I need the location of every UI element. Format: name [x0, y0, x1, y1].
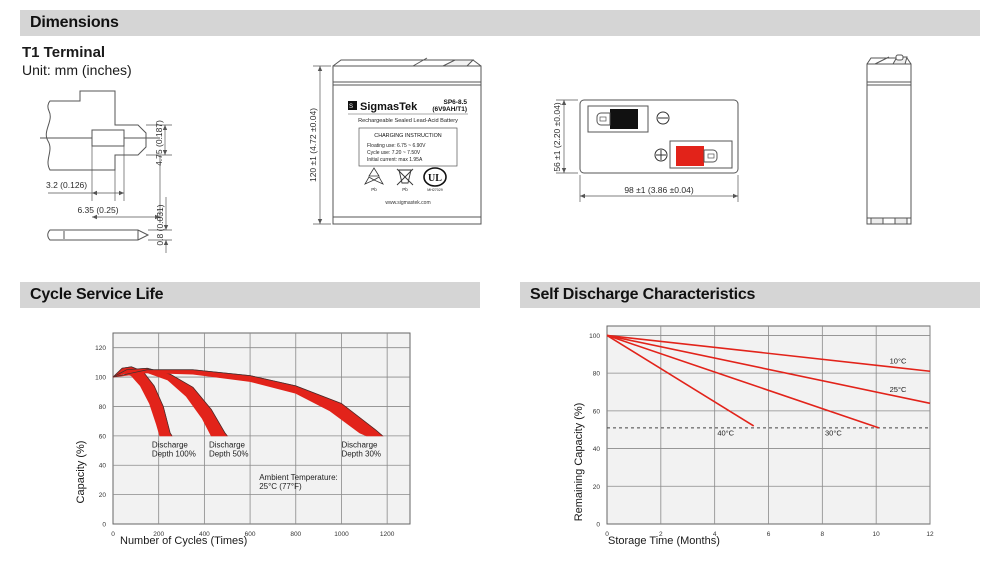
model-spec: (6V9AH/T1) — [432, 106, 467, 113]
section-title-dimensions: Dimensions — [20, 14, 119, 32]
cycle-annotation: 25°C (77°F) — [259, 482, 302, 491]
selfdis-xtick: 8 — [821, 531, 825, 538]
cycle-annotation: Depth 50% — [209, 450, 249, 459]
cycle-annotation: Ambient Temperature: — [259, 473, 338, 482]
selfdis-chart-xlabel: Storage Time (Months) — [608, 535, 720, 547]
cycle-xtick: 1200 — [380, 531, 395, 538]
terminal-detail-drawing: 4.75 (0.187) 3.2 (0.126) 6.35 (0.25) 0.8… — [20, 85, 240, 260]
ul-file-number: MH27029 — [427, 188, 443, 192]
section-header-self-discharge: Self Discharge Characteristics — [520, 282, 980, 308]
battery-top-view: 56 ±1 (2.20 ±0.04) 98 ±1 (3.86 ±0.04) — [520, 80, 820, 220]
brand-name: SigmasTek — [360, 101, 418, 113]
charging-line-floating: Floating use: 6.75 ~ 6.90V — [367, 143, 426, 149]
battery-front-view: 120 ±1 (4.72 ±0.04) S SigmasTek SP6-8.5 … — [295, 52, 500, 237]
terminal-height-dimension: 4.75 (0.187) — [154, 120, 164, 166]
cycle-service-life-chart: 020040060080010001200020406080100120Disc… — [20, 312, 480, 557]
cycle-xtick: 0 — [111, 531, 115, 538]
selfdis-temp-label: 30°C — [825, 428, 842, 437]
selfdis-ytick: 100 — [589, 333, 600, 340]
crossed-bin-pb-caption: Pb — [402, 187, 408, 192]
selfdis-ytick: 40 — [593, 446, 601, 453]
section-header-cycle-service-life: Cycle Service Life — [20, 282, 480, 308]
selfdis-chart-ylabel: Remaining Capacity (%) — [573, 403, 585, 522]
selfdis-ytick: 60 — [593, 408, 601, 415]
selfdis-temp-label: 40°C — [717, 428, 734, 437]
website-url: www.sigmastek.com — [385, 200, 430, 206]
selfdis-xtick: 12 — [926, 531, 934, 538]
selfdis-xtick: 10 — [873, 531, 881, 538]
cycle-annotation: Depth 30% — [341, 450, 381, 459]
selfdis-ytick: 20 — [593, 484, 601, 491]
cycle-chart-xlabel: Number of Cycles (Times) — [120, 535, 247, 547]
front-view-height-dimension: 120 ±1 (4.72 ±0.04) — [308, 108, 318, 182]
selfdis-xtick: 6 — [767, 531, 771, 538]
cycle-annotation: Discharge — [152, 441, 189, 450]
selfdis-ytick: 80 — [593, 371, 601, 378]
cycle-chart-ylabel: Capacity (%) — [75, 441, 87, 504]
cycle-xtick: 1000 — [334, 531, 349, 538]
selfdis-temp-label: 10°C — [890, 357, 907, 366]
cycle-annotation: Discharge — [341, 441, 378, 450]
cycle-ytick: 80 — [99, 404, 107, 411]
unit-note: Unit: mm (inches) — [22, 62, 132, 79]
top-view-height-dimension: 56 ±1 (2.20 ±0.04) — [552, 102, 562, 172]
battery-type-line: Rechargeable Sealed Lead-Acid Battery — [358, 118, 458, 124]
cycle-ytick: 120 — [95, 345, 106, 352]
cycle-annotation: Discharge — [209, 441, 246, 450]
terminal-offset-dimension: 3.2 (0.126) — [46, 180, 87, 190]
top-view-width-dimension: 98 ±1 (3.86 ±0.04) — [624, 185, 694, 195]
positive-polarity-icon — [655, 149, 667, 161]
charging-instruction-title: CHARGING INSTRUCTION — [374, 133, 441, 139]
section-header-dimensions: Dimensions — [20, 10, 980, 36]
battery-side-view — [845, 52, 935, 242]
cycle-annotation: Depth 100% — [152, 450, 196, 459]
selfdis-ytick: 0 — [596, 522, 600, 529]
section-title-self-discharge: Self Discharge Characteristics — [520, 286, 755, 304]
cycle-xtick: 800 — [290, 531, 301, 538]
cycle-ytick: 20 — [99, 492, 107, 499]
cycle-ytick: 60 — [99, 433, 107, 440]
cycle-ytick: 100 — [95, 375, 106, 382]
self-discharge-chart: 02468101202040608010010°C25°C30°C40°C Re… — [520, 312, 980, 557]
charging-line-cycle: Cycle use: 7.20 ~ 7.50V — [367, 150, 421, 156]
terminal-type-label: T1 Terminal — [22, 44, 105, 61]
terminal-thickness-dimension: 0.8 (0.031) — [155, 204, 165, 245]
section-title-cycle-service-life: Cycle Service Life — [20, 286, 163, 304]
model-number: SP6-8.5 — [444, 99, 468, 106]
charging-line-initial-current: Initial current: max 1.95A — [367, 157, 423, 163]
svg-text:S: S — [349, 104, 353, 110]
recycle-pb-caption: Pb — [371, 187, 377, 192]
svg-text:UL: UL — [428, 173, 442, 184]
terminal-width-dimension: 6.35 (0.25) — [77, 205, 118, 215]
cycle-ytick: 0 — [102, 522, 106, 529]
cycle-ytick: 40 — [99, 463, 107, 470]
selfdis-temp-label: 25°C — [890, 385, 907, 394]
